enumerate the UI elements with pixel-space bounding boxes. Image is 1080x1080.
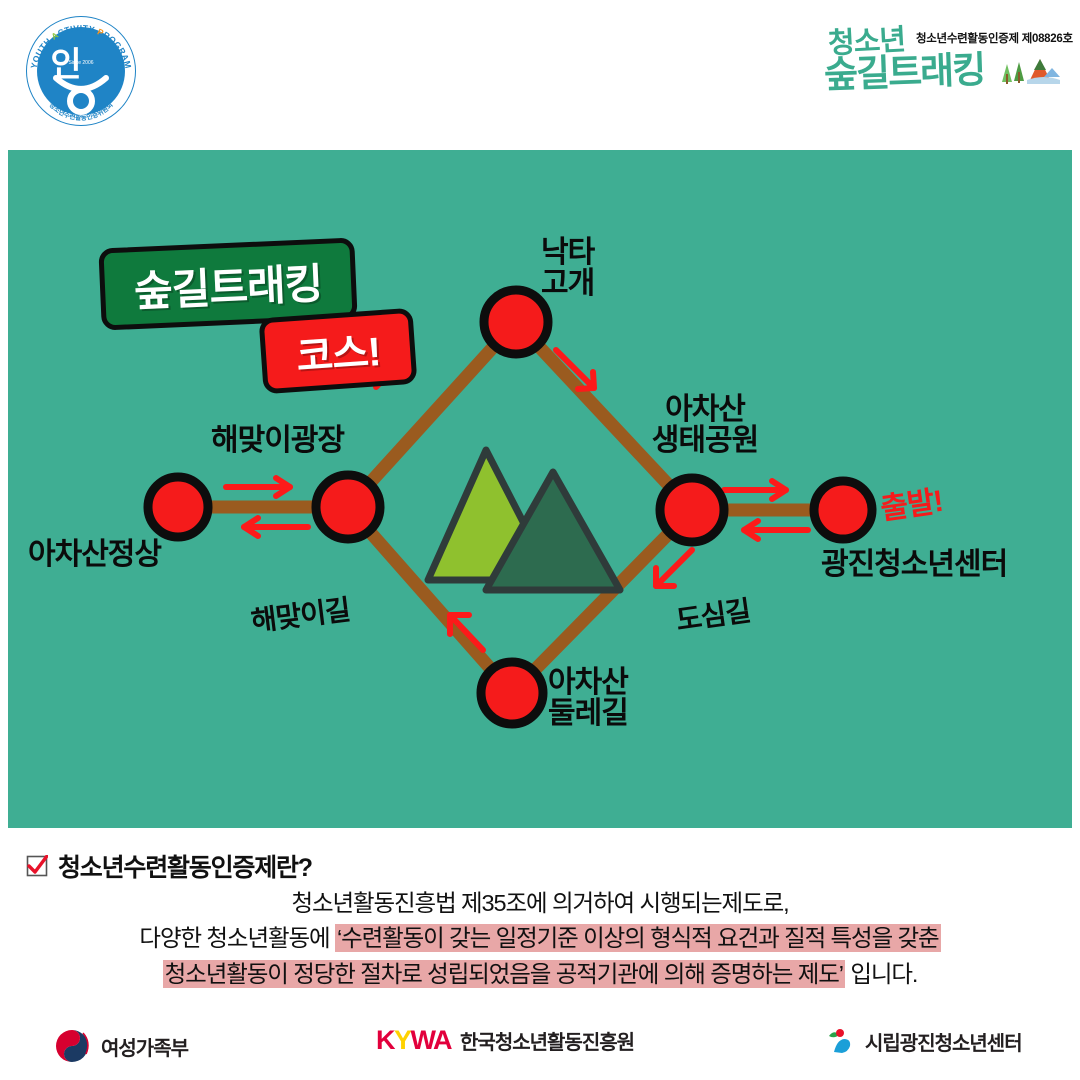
explanation-heading: 청소년수련활동인증제란? (26, 848, 312, 884)
mountain-tree-icon (996, 50, 1062, 86)
start-flag-label: 출발! (877, 476, 945, 528)
node-gwangjin-center (814, 481, 872, 539)
kywa-mark-k: K (376, 1025, 394, 1055)
node-haemaji-plaza (316, 475, 380, 539)
explanation-line-2: 다양한 청소년활동에 ‘수련활동이 갖는 일정기준 이상의 형식적 요건과 질적… (0, 921, 1080, 956)
program-wordmark-logo: 청소년수련활동인증제 제08826호 청소년 숲길트래킹 (804, 8, 1066, 134)
node-achasan-summit (148, 477, 208, 537)
kywa-mark-v: Y (394, 1025, 411, 1055)
svg-text:Since 2006: Since 2006 (68, 60, 93, 66)
explanation-section: 청소년수련활동인증제란? 청소년활동진흥법 제35조에 의거하여 시행되는제도로… (0, 834, 1080, 1004)
page-header: YOUTH ACTIVITY PROGRAM 청소년수련활동인증위원회 인 Si… (0, 0, 1080, 148)
explanation-body: 청소년활동진흥법 제35조에 의거하여 시행되는제도로, 다양한 청소년활동에 … (0, 886, 1080, 992)
node-achasan-dullegil (481, 662, 543, 724)
wordmark-line2: 숲길트래킹 (823, 50, 1024, 92)
explanation-line-3-highlight: 청소년활동이 정당한 절차로 성립되었음을 공적기관에 의해 증명하는 제도’ (163, 960, 845, 988)
mountain-illustration (428, 450, 620, 590)
partner-gwangjin: 시립광진청소년센터 (826, 1026, 1022, 1056)
partner-footer: 여성가족부 KYWA 한국청소년활동진흥원 시립광진청소년센터 (0, 1004, 1080, 1080)
kywa-mark-icon: KYWA (376, 1027, 451, 1054)
gwangjin-person-icon (826, 1026, 856, 1056)
explanation-title: 청소년수련활동인증제란? (58, 848, 312, 884)
badge-course-exclaim: 코스! (259, 308, 418, 395)
explanation-line-2-highlight: ‘수련활동이 갖는 일정기준 이상의 형식적 요건과 질적 특성을 갖춘 (335, 924, 941, 952)
certification-seal-logo: YOUTH ACTIVITY PROGRAM 청소년수련활동인증위원회 인 Si… (22, 12, 140, 130)
node-achasan-ecopark (660, 478, 724, 542)
explanation-line-1: 청소년활동진흥법 제35조에 의거하여 시행되는제도로, (0, 886, 1080, 921)
label-achasan-ecopark: 아차산 생태공원 (585, 395, 825, 456)
label-gwangjin-center: 광진청소년센터 (821, 550, 1007, 581)
partner-mogef-label: 여성가족부 (101, 1032, 188, 1061)
label-nakta-gogae: 낙타 고개 (541, 238, 594, 299)
partner-mogef: 여성가족부 (52, 1026, 188, 1066)
explanation-line-3: 청소년활동이 정당한 절차로 성립되었음을 공적기관에 의해 증명하는 제도’ … (0, 957, 1080, 992)
explanation-line-2-prefix: 다양한 청소년활동에 (139, 925, 335, 951)
trekking-course-map: 숲길트래킹 코스! 아차산정상 해맞이광장 낙타 고개 아차산 생태공원 아차산… (8, 150, 1072, 828)
partner-kywa: KYWA 한국청소년활동진흥원 (376, 1026, 634, 1055)
node-nakta-gogae (484, 290, 548, 354)
partner-kywa-label: 한국청소년활동진흥원 (460, 1026, 634, 1055)
label-achasan-summit: 아차산정상 (28, 540, 161, 571)
seal-artwork: YOUTH ACTIVITY PROGRAM 청소년수련활동인증위원회 인 Si… (22, 12, 140, 130)
partner-gwangjin-label: 시립광진청소년센터 (865, 1027, 1022, 1056)
explanation-line-3-suffix: 입니다. (845, 961, 917, 987)
checkbox-checked-icon (26, 855, 48, 877)
label-haemaji-plaza: 해맞이광장 (211, 426, 344, 457)
kywa-mark-wa: WA (411, 1025, 452, 1055)
mogef-taegeuk-icon (52, 1026, 92, 1066)
label-achasan-dullegil: 아차산 둘레길 (548, 668, 628, 729)
